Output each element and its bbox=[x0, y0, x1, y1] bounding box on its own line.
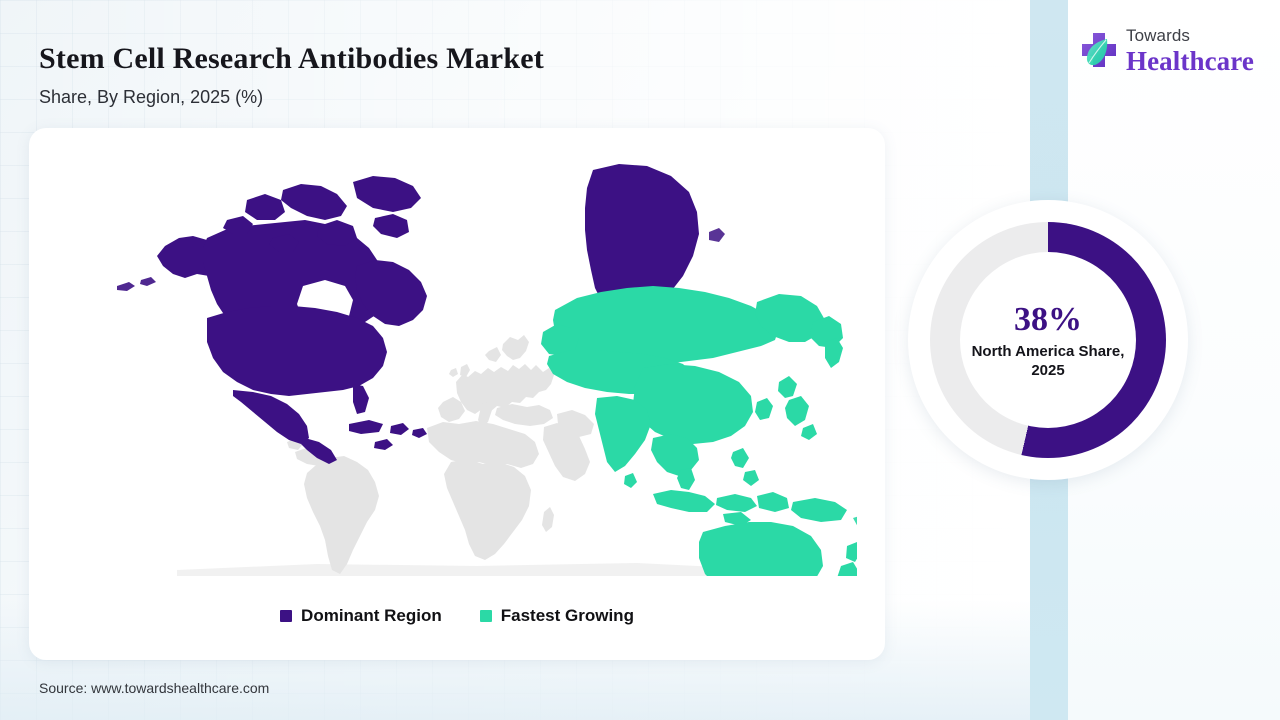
page-title: Stem Cell Research Antibodies Market bbox=[39, 42, 544, 76]
brand-logo-text: Towards Healthcare bbox=[1126, 26, 1256, 76]
map-legend: Dominant Region Fastest Growing bbox=[29, 606, 885, 626]
cross-leaf-logo-icon bbox=[1076, 30, 1122, 76]
world-map bbox=[57, 146, 857, 576]
legend-swatch-icon bbox=[480, 610, 492, 622]
map-card: Dominant Region Fastest Growing bbox=[29, 128, 885, 660]
donut-value: 38% bbox=[1014, 301, 1082, 339]
donut-caption: North America Share, 2025 bbox=[960, 342, 1136, 380]
legend-label: Fastest Growing bbox=[501, 606, 634, 626]
brand-logo: Towards Healthcare bbox=[1076, 26, 1256, 82]
donut-caption-line1: North America Share, bbox=[972, 343, 1125, 360]
source-label: Source: www.towardshealthcare.com bbox=[39, 680, 269, 696]
brand-name-line1: Towards bbox=[1126, 26, 1256, 46]
legend-label: Dominant Region bbox=[301, 606, 442, 626]
brand-name-line2: Healthcare bbox=[1126, 46, 1256, 76]
donut-chart: 38% North America Share, 2025 bbox=[908, 200, 1188, 480]
page-subtitle: Share, By Region, 2025 (%) bbox=[39, 87, 263, 108]
donut-center: 38% North America Share, 2025 bbox=[960, 252, 1136, 428]
infographic-slide: Stem Cell Research Antibodies Market Sha… bbox=[0, 0, 1280, 720]
legend-swatch-icon bbox=[280, 610, 292, 622]
legend-item-fastest-growing[interactable]: Fastest Growing bbox=[480, 606, 634, 626]
legend-item-dominant-region[interactable]: Dominant Region bbox=[280, 606, 442, 626]
donut-caption-line2: 2025 bbox=[1031, 362, 1064, 379]
